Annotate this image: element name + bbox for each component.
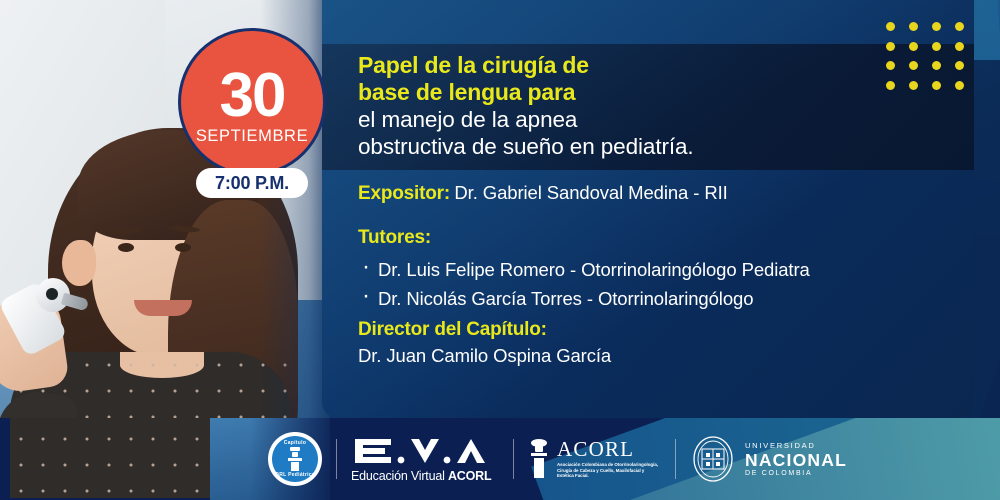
photo-ear — [62, 240, 96, 286]
eva-logo: Educación Virtual ACORL — [351, 435, 499, 483]
photo-eye-right — [175, 243, 191, 252]
acorl-logo: ACORL Asociación Colombiana de Otorrinol… — [528, 438, 661, 480]
eva-subtitle-bold: ACORL — [448, 469, 491, 483]
dot — [909, 81, 918, 90]
director-label: Director del Capítulo: — [358, 319, 958, 341]
footer-divider-3 — [675, 439, 676, 479]
dot — [955, 81, 964, 90]
title-highlight-line-2: base de lengua para — [358, 79, 958, 106]
capitulo-orl-pediatrica-seal: Capítulo ORL Pediátrica — [268, 432, 322, 486]
dot — [886, 42, 895, 51]
dot — [886, 22, 895, 31]
dot — [909, 42, 918, 51]
lighthouse-icon — [284, 446, 306, 472]
unal-text: UNIVERSIDAD NACIONAL DE COLOMBIA — [745, 441, 847, 477]
date-day: 30 — [220, 67, 285, 125]
footer-divider — [336, 439, 337, 479]
seal-top-text: Capítulo — [272, 440, 318, 446]
footer-logos: Capítulo ORL Pediátrica — [268, 418, 847, 500]
content-card: Papel de la cirugía de base de lengua pa… — [322, 0, 974, 418]
dot — [955, 42, 964, 51]
title-highlight-line-1: Papel de la cirugía de — [358, 52, 958, 79]
unal-crest-icon — [690, 434, 736, 484]
eva-mark-icon — [351, 435, 499, 467]
eva-subtitle-normal: Educación Virtual — [351, 469, 448, 483]
dot-grid-decoration — [886, 22, 978, 100]
unal-line-2: NACIONAL — [745, 450, 847, 470]
photo-eye-left — [118, 243, 134, 252]
dot — [932, 22, 941, 31]
event-details: Expositor: Dr. Gabriel Sandoval Medina -… — [358, 182, 958, 367]
dot — [909, 61, 918, 70]
speaker-name: Dr. Gabriel Sandoval Medina - RII — [454, 182, 727, 203]
title-sub-line-2: obstructiva de sueño en pediatría. — [358, 133, 958, 160]
photo-smile — [134, 300, 192, 316]
dot — [955, 22, 964, 31]
acorl-description: Asociación Colombiana de Otorrinolaringo… — [557, 462, 661, 479]
event-title: Papel de la cirugía de base de lengua pa… — [358, 52, 958, 160]
dot — [955, 61, 964, 70]
tutors-row: Tutores: Dr. Luis Felipe Romero - Otorri… — [358, 227, 958, 313]
footer-divider-2 — [513, 439, 514, 479]
director-name: Dr. Juan Camilo Ospina García — [358, 345, 958, 367]
unal-line-1: UNIVERSIDAD — [745, 441, 847, 450]
tutors-label: Tutores: — [358, 227, 958, 249]
dot — [932, 61, 941, 70]
speaker-label: Expositor: — [358, 183, 450, 204]
eva-subtitle: Educación Virtual ACORL — [351, 469, 491, 483]
seal-ring: Capítulo ORL Pediátrica — [272, 436, 318, 482]
acorl-text: ACORL Asociación Colombiana de Otorrinol… — [557, 439, 661, 479]
time-text: 7:00 P.M. — [215, 173, 289, 194]
universidad-nacional-logo: UNIVERSIDAD NACIONAL DE COLOMBIA — [690, 434, 847, 484]
time-badge: 7:00 P.M. — [196, 168, 308, 198]
speaker-row: Expositor: Dr. Gabriel Sandoval Medina -… — [358, 182, 958, 205]
dot — [886, 61, 895, 70]
eva-wordmark — [351, 435, 499, 467]
dot — [909, 22, 918, 31]
list-item: Dr. Luis Felipe Romero - Otorrinolaringó… — [358, 255, 958, 284]
tutors-list: Dr. Luis Felipe Romero - Otorrinolaringó… — [358, 255, 958, 313]
webinar-banner: Papel de la cirugía de base de lengua pa… — [0, 0, 1000, 500]
footer-bar: Capítulo ORL Pediátrica — [0, 418, 1000, 500]
date-month: SEPTIEMBRE — [196, 127, 308, 146]
list-item: Dr. Nicolás García Torres - Otorrinolari… — [358, 284, 958, 313]
date-badge: 30 SEPTIEMBRE — [178, 28, 326, 176]
dot — [886, 81, 895, 90]
title-sub-line-1: el manejo de la apnea — [358, 106, 958, 133]
otoscope-lens-icon — [46, 288, 58, 300]
acorl-lighthouse-icon — [528, 438, 550, 480]
dot — [932, 81, 941, 90]
seal-bottom-text: ORL Pediátrica — [272, 472, 318, 478]
acorl-name: ACORL — [557, 439, 661, 460]
unal-line-3: DE COLOMBIA — [745, 470, 847, 477]
director-row: Director del Capítulo: Dr. Juan Camilo O… — [358, 319, 958, 367]
dot — [932, 42, 941, 51]
